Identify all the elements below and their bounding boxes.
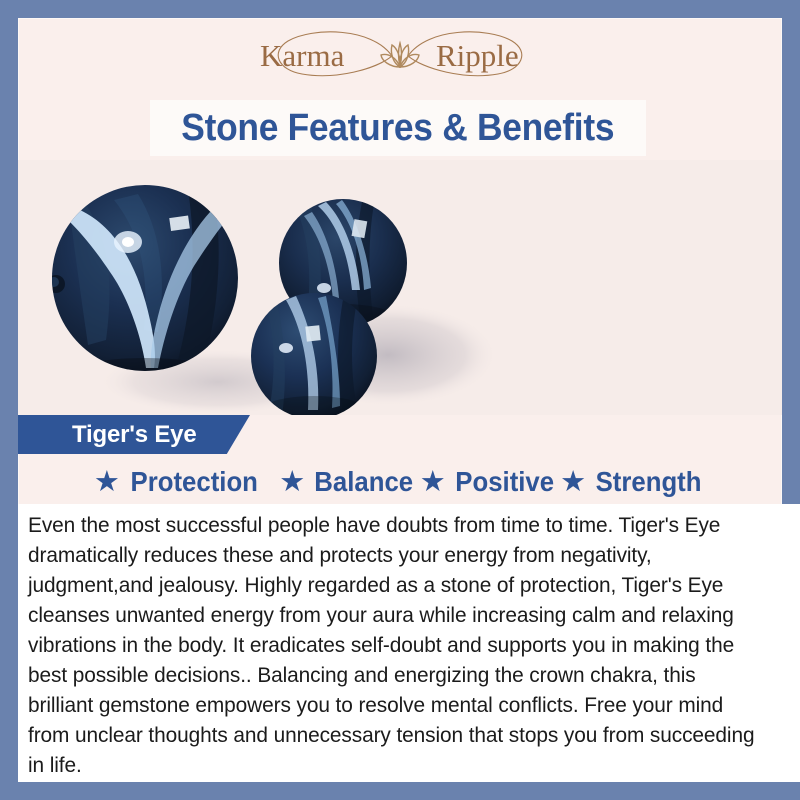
benefit-item-protection: ★ Protection (94, 466, 263, 498)
benefit-item-strength: ★ Strength (560, 466, 706, 498)
star-icon: ★ (420, 468, 446, 497)
benefit-item-positive: ★ Positive (420, 466, 558, 498)
benefit-label: Balance (315, 466, 414, 498)
stone-name-badge: Tiger's Eye (18, 415, 250, 454)
description-text: Even the most successful people have dou… (28, 510, 763, 780)
brand-logo-graphic: Karma Ripple (240, 25, 560, 87)
star-icon: ★ (279, 468, 305, 497)
infographic-page: Karma Ripple Stone Features & Benefits (0, 0, 800, 800)
benefit-label: Strength (596, 466, 702, 498)
brand-logo: Karma Ripple (0, 26, 800, 86)
gemstone-photo (18, 160, 782, 415)
frame-border-left (0, 0, 18, 800)
frame-border-top (0, 0, 800, 18)
gemstone-sphere-small (251, 293, 377, 415)
benefit-label: Positive (455, 466, 554, 498)
star-icon: ★ (560, 468, 586, 497)
title-band: Stone Features & Benefits (150, 100, 646, 156)
benefits-row: ★ Protection ★ Balance ★ Positive ★ Stre… (18, 461, 782, 503)
benefit-item-balance: ★ Balance (279, 466, 417, 498)
stone-name-label: Tiger's Eye (72, 421, 196, 449)
brand-word-right: Ripple (436, 38, 519, 73)
star-icon: ★ (94, 468, 120, 497)
gemstone-illustration (18, 160, 782, 415)
description-panel: Even the most successful people have dou… (18, 504, 800, 782)
frame-border-bottom (0, 782, 800, 800)
brand-word-left: Karma (260, 38, 345, 73)
page-title: Stone Features & Benefits (182, 107, 615, 150)
benefit-label: Protection (130, 466, 257, 498)
